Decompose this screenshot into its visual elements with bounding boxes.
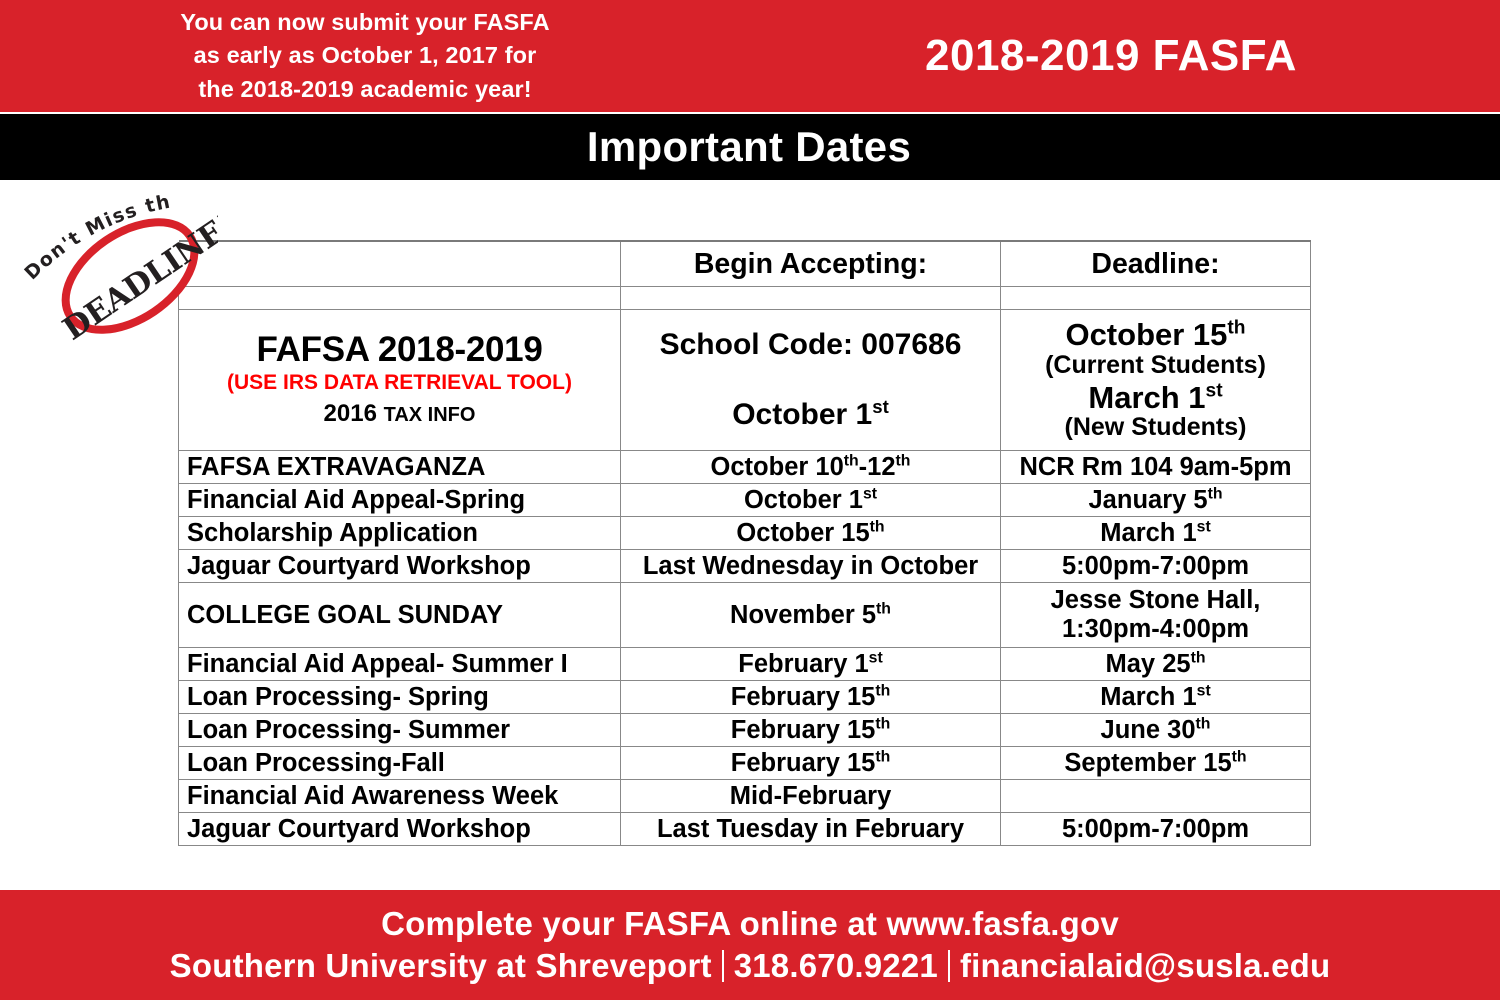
row-deadline: March 1st (1001, 517, 1311, 550)
footer-divider-2 (948, 950, 950, 982)
row-event-name: Scholarship Application (179, 517, 621, 550)
school-code: School Code: 007686 (625, 328, 996, 362)
ordinal-suffix: th (875, 748, 890, 765)
ordinal-suffix: th (1208, 485, 1223, 502)
fafsa-irs-note: (USE IRS DATA RETRIEVAL TOOL) (187, 370, 612, 396)
ordinal-suffix: th (896, 452, 911, 469)
fafsa-deadline-current: October 15th (1005, 318, 1306, 351)
table-row: Financial Aid Awareness WeekMid-February (179, 780, 1311, 813)
fafsa-deadline-current-note: (Current Students) (1005, 352, 1306, 380)
row-begin-accepting: October 1st (621, 484, 1001, 517)
banner-title: 2018-2019 FASFA (760, 31, 1500, 81)
footer-university: Southern University at Shreveport (170, 947, 712, 985)
ordinal-suffix: th (844, 452, 859, 469)
fafsa-deadline-new-ordinal: st (1206, 381, 1223, 402)
row-begin-accepting: February 1st (621, 648, 1001, 681)
footer-contact-line: Southern University at Shreveport 318.67… (170, 947, 1331, 985)
row-begin-accepting: February 15th (621, 681, 1001, 714)
table-row: Loan Processing-FallFebruary 15thSeptemb… (179, 747, 1311, 780)
fafsa-main-name-cell: FAFSA 2018-2019 (USE IRS DATA RETRIEVAL … (179, 310, 621, 451)
row-begin-accepting: October 10th-12th (621, 451, 1001, 484)
ordinal-suffix: st (869, 649, 883, 666)
footer-website-line: Complete your FASFA online at www.fasfa.… (381, 905, 1119, 943)
row-event-name: FAFSA EXTRAVAGANZA (179, 451, 621, 484)
row-begin-accepting: February 15th (621, 747, 1001, 780)
footer-email[interactable]: financialaid@susla.edu (960, 947, 1330, 985)
fafsa-deadline-current-ordinal: th (1227, 318, 1245, 339)
fafsa-main-deadline-cell: October 15th (Current Students) March 1s… (1001, 310, 1311, 451)
row-deadline: Jesse Stone Hall,1:30pm-4:00pm (1001, 583, 1311, 648)
fafsa-deadline-new-text: March 1 (1088, 380, 1205, 415)
ordinal-suffix: th (870, 518, 885, 535)
spacer-cell-c (1001, 287, 1311, 310)
promo-text-block: You can now submit your FASFA as early a… (0, 6, 760, 106)
ordinal-suffix: th (1191, 649, 1206, 666)
row-deadline: June 30th (1001, 714, 1311, 747)
row-deadline: 5:00pm-7:00pm (1001, 813, 1311, 846)
row-deadline: September 15th (1001, 747, 1311, 780)
fafsa-tax-info: 2016 TAX INFO (187, 399, 612, 429)
table-header-row: Begin Accepting: Deadline: (179, 241, 1311, 287)
row-event-name: Financial Aid Appeal- Summer I (179, 648, 621, 681)
footer-phone[interactable]: 318.670.9221 (734, 947, 938, 985)
fafsa-tax-year: 2016 (324, 400, 377, 427)
table-row: Jaguar Courtyard WorkshopLast Tuesday in… (179, 813, 1311, 846)
row-event-name: Financial Aid Awareness Week (179, 780, 621, 813)
spacer-cell-a (179, 287, 621, 310)
row-deadline: 5:00pm-7:00pm (1001, 550, 1311, 583)
fafsa-deadline-current-text: October 15 (1065, 317, 1227, 352)
ordinal-suffix: st (1197, 518, 1211, 535)
table-row-fafsa-main: FAFSA 2018-2019 (USE IRS DATA RETRIEVAL … (179, 310, 1311, 451)
promo-line-1: You can now submit your FASFA (0, 6, 730, 39)
ordinal-suffix: th (1196, 715, 1211, 732)
header-cell-blank (179, 241, 621, 287)
row-begin-accepting: Last Tuesday in February (621, 813, 1001, 846)
spacer-cell-b (621, 287, 1001, 310)
row-event-name: Jaguar Courtyard Workshop (179, 813, 621, 846)
fafsa-begin-date: October 1st (625, 398, 996, 432)
table-spacer-row (179, 287, 1311, 310)
ordinal-suffix: th (875, 682, 890, 699)
table-row: COLLEGE GOAL SUNDAYNovember 5thJesse Sto… (179, 583, 1311, 648)
row-event-name: Loan Processing- Spring (179, 681, 621, 714)
ordinal-suffix: th (876, 600, 891, 617)
header-cell-deadline: Deadline: (1001, 241, 1311, 287)
fafsa-tax-label: TAX INFO (384, 404, 476, 426)
row-event-name: Loan Processing-Fall (179, 747, 621, 780)
row-deadline: May 25th (1001, 648, 1311, 681)
row-deadline: NCR Rm 104 9am-5pm (1001, 451, 1311, 484)
fafsa-title: FAFSA 2018-2019 (187, 332, 612, 369)
fafsa-deadline-new: March 1st (1005, 381, 1306, 414)
title-band: Important Dates (0, 114, 1500, 180)
fafsa-begin-date-ordinal: st (872, 396, 889, 417)
header-cell-begin-accepting: Begin Accepting: (621, 241, 1001, 287)
row-event-name: Financial Aid Appeal-Spring (179, 484, 621, 517)
page-title: Important Dates (587, 123, 911, 171)
table-row: Jaguar Courtyard WorkshopLast Wednesday … (179, 550, 1311, 583)
row-begin-accepting: Mid-February (621, 780, 1001, 813)
row-begin-accepting: February 15th (621, 714, 1001, 747)
ordinal-suffix: th (1232, 748, 1247, 765)
row-event-name: Loan Processing- Summer (179, 714, 621, 747)
row-deadline: January 5th (1001, 484, 1311, 517)
table-rows-body: FAFSA EXTRAVAGANZAOctober 10th-12thNCR R… (179, 451, 1311, 846)
fafsa-begin-date-text: October 1 (732, 398, 872, 431)
fafsa-main-begin-cell: School Code: 007686 October 1st (621, 310, 1001, 451)
promo-line-3: the 2018-2019 academic year! (0, 73, 730, 106)
important-dates-table: Begin Accepting: Deadline: FAFSA 2018-20… (178, 240, 1311, 846)
ordinal-suffix: st (1197, 682, 1211, 699)
table-row: Scholarship ApplicationOctober 15thMarch… (179, 517, 1311, 550)
footer-banner: Complete your FASFA online at www.fasfa.… (0, 890, 1500, 1000)
row-event-name: Jaguar Courtyard Workshop (179, 550, 621, 583)
table-row: Financial Aid Appeal-SpringOctober 1stJa… (179, 484, 1311, 517)
row-begin-accepting: November 5th (621, 583, 1001, 648)
svg-text:Don't Miss the: Don't Miss the (18, 188, 173, 284)
footer-divider-1 (722, 950, 724, 982)
row-deadline (1001, 780, 1311, 813)
table-row: Loan Processing- SummerFebruary 15thJune… (179, 714, 1311, 747)
ordinal-suffix: th (875, 715, 890, 732)
row-begin-accepting: October 15th (621, 517, 1001, 550)
row-begin-accepting: Last Wednesday in October (621, 550, 1001, 583)
top-banner: You can now submit your FASFA as early a… (0, 0, 1500, 112)
fafsa-deadline-new-note: (New Students) (1005, 414, 1306, 442)
promo-line-2: as early as October 1, 2017 for (0, 39, 730, 72)
table-row: FAFSA EXTRAVAGANZAOctober 10th-12thNCR R… (179, 451, 1311, 484)
table-row: Loan Processing- SpringFebruary 15thMarc… (179, 681, 1311, 714)
row-deadline: March 1st (1001, 681, 1311, 714)
table-row: Financial Aid Appeal- Summer IFebruary 1… (179, 648, 1311, 681)
ordinal-suffix: st (863, 485, 877, 502)
row-event-name: COLLEGE GOAL SUNDAY (179, 583, 621, 648)
